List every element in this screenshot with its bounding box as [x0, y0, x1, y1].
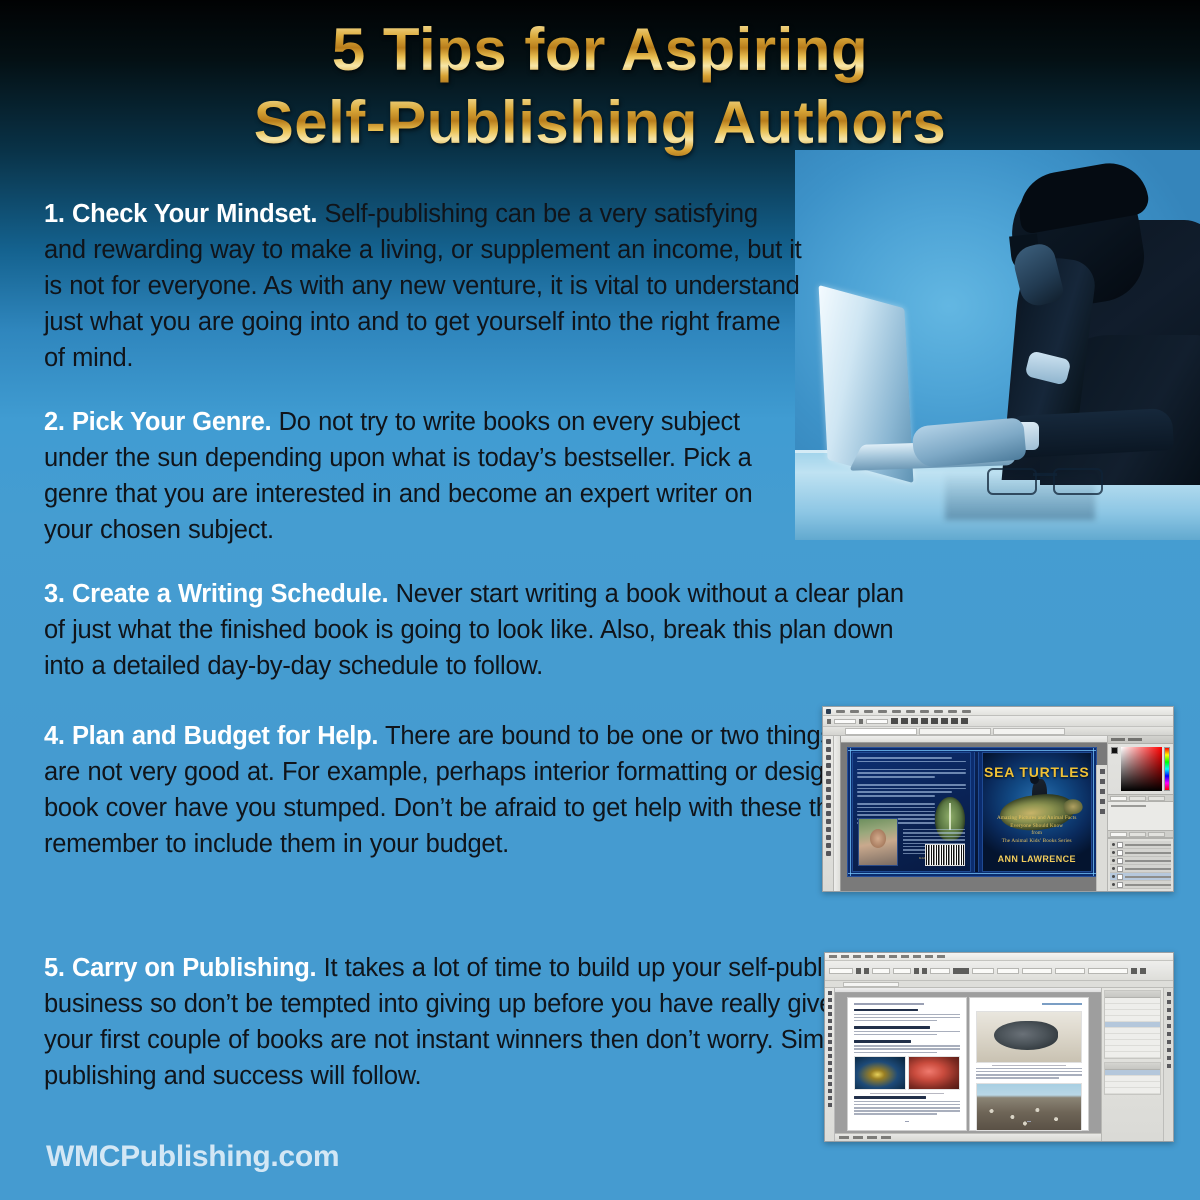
layer-name	[1125, 868, 1171, 870]
preflight-status	[867, 1136, 877, 1139]
book-front-cover: SEA TURTLES Amazing Pictures and Animal …	[982, 752, 1093, 872]
menu-item[interactable]	[913, 955, 921, 958]
align-left-icon[interactable]	[856, 968, 861, 974]
page-tool-icon[interactable]	[828, 1005, 832, 1009]
rectangle-tool-icon[interactable]	[828, 1054, 832, 1058]
hand-tool-icon[interactable]	[826, 843, 831, 848]
indesign-document-tabs	[825, 981, 1173, 988]
color-panel-icon[interactable]	[1167, 1024, 1171, 1028]
title-line-1: 5 Tips for Aspiring	[0, 14, 1200, 86]
running-header	[854, 1003, 924, 1005]
effects-panel-icon[interactable]	[1167, 1040, 1171, 1044]
selection-tool-icon[interactable]	[828, 991, 832, 995]
indesign-right-panels	[1101, 988, 1163, 1141]
section-heading	[854, 1040, 911, 1043]
foreground-color-swatch[interactable]	[1111, 747, 1118, 754]
folio-mark	[1027, 1121, 1031, 1123]
scissors-tool-icon[interactable]	[828, 1061, 832, 1065]
text-line	[857, 795, 935, 797]
distribute-icon[interactable]	[951, 718, 958, 724]
image-caption	[992, 1065, 1066, 1066]
jellyfish-photo	[854, 1056, 906, 1090]
photoshop-menu-bar	[823, 707, 1173, 716]
font-size-field[interactable]	[872, 968, 890, 974]
layer-row[interactable]	[1110, 857, 1171, 865]
subtitle-line-4: The Animal Kids’ Books Series	[1002, 838, 1072, 844]
menu-item[interactable]	[853, 955, 861, 958]
stroke-weight-swatch[interactable]	[953, 968, 969, 974]
text-line	[857, 761, 966, 763]
section-heading	[854, 1009, 918, 1012]
indesign-canvas[interactable]	[835, 988, 1101, 1141]
crop-tool-icon[interactable]	[826, 763, 831, 768]
tip-paragraph-4: 4. Plan and Budget for Help. There are b…	[44, 718, 954, 862]
gradient-tool-icon[interactable]	[828, 1075, 832, 1079]
layer-row[interactable]	[1110, 849, 1171, 857]
spacer	[857, 765, 966, 769]
distribute-icon[interactable]	[921, 718, 928, 724]
panel-header[interactable]	[1105, 991, 1160, 998]
title-line-2: Self-Publishing Authors	[0, 86, 1200, 160]
tip-lead-1: 1. Check Your Mindset.	[44, 200, 317, 228]
running-header-right	[1042, 1003, 1082, 1005]
type-tool-icon[interactable]	[828, 1019, 832, 1023]
menu-item[interactable]	[865, 955, 873, 958]
photoshop-toolbar	[823, 736, 834, 891]
navigator-panel-icon[interactable]	[1100, 779, 1105, 784]
interior-page-right[interactable]	[969, 997, 1089, 1131]
horizontal-ruler	[834, 736, 1107, 743]
body-text-line	[976, 1071, 1082, 1072]
style-row[interactable]	[1105, 1088, 1160, 1094]
subtitle-line-2: Everyone Should Know	[1010, 823, 1063, 829]
photoshop-canvas[interactable]: The Animal Kids’ Books Series SEA TURTLE…	[834, 736, 1107, 891]
body-text-line	[854, 1031, 960, 1032]
layer-thumbnail	[1117, 882, 1123, 888]
panel-tab-adjustments[interactable]	[1129, 796, 1146, 801]
photoshop-options-bar	[823, 716, 1173, 727]
image-row	[854, 1056, 960, 1090]
move-tool-icon[interactable]	[826, 739, 831, 744]
layer-visibility-icon[interactable]	[1112, 843, 1115, 846]
menu-item	[892, 710, 901, 713]
layer-row[interactable]	[1110, 881, 1171, 889]
tool-option-field[interactable]	[866, 719, 888, 724]
document-tab-active[interactable]	[843, 982, 899, 987]
horizontal-ruler	[835, 988, 1101, 993]
paths-panel-icon[interactable]	[1100, 809, 1105, 814]
saturation-value-field[interactable]	[1121, 747, 1162, 791]
text-line	[903, 829, 965, 830]
body-text-line	[854, 1104, 960, 1105]
body-text-line	[854, 1101, 960, 1102]
text-wrap-panel-icon[interactable]	[1167, 1048, 1171, 1052]
menu-item	[878, 710, 887, 713]
eraser-tool-icon[interactable]	[826, 803, 831, 808]
bullet-line	[857, 803, 935, 805]
layers-panel-icon[interactable]	[1167, 1000, 1171, 1004]
pen-tool-icon[interactable]	[828, 1033, 832, 1037]
gap-tool-icon[interactable]	[828, 1012, 832, 1016]
tip-lead-4: 4. Plan and Budget for Help.	[44, 722, 378, 750]
image-caption	[870, 1093, 944, 1094]
layer-row[interactable]	[1110, 841, 1171, 849]
pages-panel-icon[interactable]	[1167, 992, 1171, 996]
book-subtitle: Amazing Pictures and Animal Facts Everyo…	[987, 815, 1087, 845]
body-text-line	[854, 1017, 960, 1018]
subtitle-line-1: Amazing Pictures and Animal Facts	[997, 815, 1077, 821]
foreground-background-swatch[interactable]	[1111, 747, 1119, 791]
page-title: 5 Tips for Aspiring Self-Publishing Auth…	[0, 14, 1200, 160]
align-icon[interactable]	[891, 718, 898, 724]
tip-paragraph-3: 3. Create a Writing Schedule. Never star…	[44, 576, 924, 684]
tip-item-3: 3. Create a Writing Schedule. Never star…	[44, 576, 924, 684]
y-position-field[interactable]	[997, 968, 1019, 974]
photoshop-logo-icon	[826, 709, 831, 714]
hyperlinks-panel-icon[interactable]	[1167, 1064, 1171, 1068]
stroke-panel-icon[interactable]	[1167, 1016, 1171, 1020]
menu-item[interactable]	[829, 955, 837, 958]
text-line	[857, 791, 952, 793]
history-panel-icon[interactable]	[1100, 769, 1105, 774]
layer-name	[1125, 844, 1171, 846]
color-picker[interactable]	[1108, 744, 1173, 794]
clone-stamp-tool-icon[interactable]	[826, 795, 831, 800]
swatches-panel-icon[interactable]	[1100, 789, 1105, 794]
text-line	[857, 769, 966, 771]
tool-option-icon[interactable]	[827, 719, 831, 724]
bold-icon[interactable]	[914, 968, 919, 974]
swatches-panel-icon[interactable]	[1167, 1032, 1171, 1036]
screenshot-indesign-interior	[824, 952, 1174, 1142]
object-style-field[interactable]	[1088, 968, 1128, 974]
tip-paragraph-2: 2. Pick Your Genre. Do not try to write …	[44, 404, 794, 548]
tip-lead-5: 5. Carry on Publishing.	[44, 954, 316, 982]
eyeglasses-bridge	[1033, 473, 1057, 476]
indesign-panel-dock	[1163, 988, 1173, 1141]
menu-item	[850, 710, 859, 713]
tip-paragraph-1: 1. Check Your Mindset. Self-publishing c…	[44, 196, 804, 376]
eyeglasses-icon	[987, 468, 1103, 494]
zoom-level-field[interactable]	[839, 1136, 849, 1139]
layer-row[interactable]	[1110, 865, 1171, 873]
isbn-barcode	[925, 844, 965, 866]
book-title: SEA TURTLES	[983, 764, 1092, 780]
author-photo	[858, 818, 898, 866]
healing-brush-tool-icon[interactable]	[826, 779, 831, 784]
text-line	[857, 757, 952, 759]
guide-line	[848, 750, 1096, 751]
document-tab-active[interactable]	[845, 728, 917, 735]
document-tab[interactable]	[993, 728, 1065, 735]
style-row[interactable]	[1105, 1052, 1160, 1058]
folio-mark	[905, 1121, 909, 1123]
menu-item	[920, 710, 929, 713]
hand-tool-icon[interactable]	[828, 1096, 832, 1100]
eyedropper-tool-icon[interactable]	[828, 1089, 832, 1093]
free-transform-tool-icon[interactable]	[828, 1068, 832, 1072]
indesign-workspace	[825, 988, 1173, 1141]
zoom-tool-icon[interactable]	[828, 1103, 832, 1107]
tip-item-2: 2. Pick Your Genre. Do not try to write …	[44, 404, 794, 548]
adjustments-panel-icon[interactable]	[1100, 799, 1105, 804]
page-navigator[interactable]	[853, 1136, 863, 1139]
color-panel-header[interactable]	[1108, 736, 1173, 744]
layer-thumbnail	[1117, 842, 1123, 848]
layer-visibility-icon[interactable]	[1112, 875, 1115, 878]
subtitle-line-3: from	[1031, 830, 1042, 836]
panel-tab-swatches[interactable]	[1128, 738, 1142, 741]
guide-line	[1093, 748, 1094, 876]
indesign-control-bar	[825, 961, 1173, 981]
menu-item[interactable]	[877, 955, 885, 958]
panel-tab-color[interactable]	[1111, 738, 1125, 741]
section-heading	[854, 1096, 926, 1099]
text-line	[857, 784, 966, 786]
guide-line	[850, 748, 851, 876]
pencil-tool-icon[interactable]	[828, 1040, 832, 1044]
pen-tool-icon[interactable]	[826, 827, 831, 832]
body-text-line	[854, 1034, 937, 1035]
vertical-ruler	[834, 736, 841, 891]
photoshop-workspace: The Animal Kids’ Books Series SEA TURTLE…	[823, 736, 1173, 891]
panel-tab-styles[interactable]	[1148, 796, 1165, 801]
panel-header[interactable]	[1105, 1063, 1160, 1070]
infographic-poster: 5 Tips for Aspiring Self-Publishing Auth…	[0, 0, 1200, 1200]
interior-page-left[interactable]	[847, 997, 967, 1131]
width-field[interactable]	[1022, 968, 1052, 974]
photoshop-document-tabs	[823, 727, 1173, 736]
brush-tool-icon[interactable]	[826, 787, 831, 792]
layer-name	[1125, 876, 1171, 878]
distribute-icon[interactable]	[941, 718, 948, 724]
book-back-cover: The Animal Kids’ Books Series	[852, 752, 971, 872]
menu-item	[836, 710, 845, 713]
layer-visibility-icon[interactable]	[1112, 867, 1115, 870]
crab-photo	[908, 1056, 960, 1090]
properties-panel-body	[1108, 802, 1173, 830]
rectangle-frame-tool-icon[interactable]	[828, 1047, 832, 1051]
bullet-line	[857, 811, 935, 813]
zoom-tool-icon[interactable]	[826, 851, 831, 856]
effects-icon[interactable]	[1140, 968, 1146, 974]
document-tab[interactable]	[919, 728, 991, 735]
height-field[interactable]	[1055, 968, 1085, 974]
direct-selection-tool-icon[interactable]	[828, 998, 832, 1002]
menu-item	[864, 710, 873, 713]
tracking-field[interactable]	[930, 968, 950, 974]
layer-visibility-icon[interactable]	[1112, 859, 1115, 862]
page-number	[970, 1109, 1088, 1127]
paragraph-styles-panel	[1104, 990, 1161, 1059]
tool-option-icon[interactable]	[859, 719, 863, 724]
character-styles-panel	[1104, 1062, 1161, 1095]
paragraph-style-field[interactable]	[829, 968, 853, 974]
menu-item	[934, 710, 943, 713]
gradient-tool-icon[interactable]	[826, 811, 831, 816]
links-panel-icon[interactable]	[1167, 1008, 1171, 1012]
body-text-line	[854, 1014, 960, 1015]
text-line	[903, 836, 965, 837]
page-number	[848, 1109, 966, 1127]
property-label	[1111, 805, 1146, 807]
sea-turtle-photo	[976, 1011, 1082, 1063]
distribute-icon[interactable]	[961, 718, 968, 724]
tip-lead-2: 2. Pick Your Genre.	[44, 408, 271, 436]
layers-panel-tabs	[1108, 830, 1173, 838]
indesign-menu-bar	[825, 953, 1173, 961]
text-line	[857, 788, 966, 790]
panel-tab-paths[interactable]	[1148, 832, 1165, 837]
body-text-line	[854, 1020, 937, 1021]
layer-thumbnail	[1117, 850, 1123, 856]
layer-thumbnail	[1117, 874, 1123, 880]
body-text-line	[854, 1048, 960, 1049]
align-panel-icon[interactable]	[1167, 1056, 1171, 1060]
leading-field[interactable]	[893, 968, 911, 974]
body-text-line	[976, 1077, 1059, 1078]
lasso-tool-icon[interactable]	[826, 755, 831, 760]
body-text-line	[976, 1068, 1082, 1069]
tip-lead-3: 3. Create a Writing Schedule.	[44, 580, 388, 608]
shape-tool-icon[interactable]	[826, 835, 831, 840]
section-heading	[854, 1026, 930, 1029]
layer-thumbnail	[1117, 858, 1123, 864]
layer-name	[1125, 884, 1171, 886]
layer-row-selected[interactable]	[1110, 873, 1171, 881]
panel-tab-layers[interactable]	[1110, 832, 1127, 837]
line-tool-icon[interactable]	[828, 1026, 832, 1030]
bullet-line	[857, 814, 935, 816]
eyedropper-tool-icon[interactable]	[826, 771, 831, 776]
book-spine	[974, 752, 979, 872]
properties-panel-tabs	[1108, 794, 1173, 802]
layer-name	[1125, 860, 1171, 862]
menu-item	[906, 710, 915, 713]
layers-panel	[1108, 838, 1173, 891]
menu-item[interactable]	[901, 955, 909, 958]
book-cover-artboard[interactable]: The Animal Kids’ Books Series SEA TURTLE…	[847, 747, 1097, 877]
note-tool-icon[interactable]	[828, 1082, 832, 1086]
book-author: ANN LAWRENCE	[983, 854, 1092, 864]
bullet-line	[857, 807, 935, 809]
menu-item[interactable]	[925, 955, 933, 958]
layer-thumbnail	[1117, 866, 1123, 872]
menu-item[interactable]	[841, 955, 849, 958]
text-line	[857, 776, 935, 778]
menu-item	[948, 710, 957, 713]
book-interior-spread[interactable]	[847, 997, 1089, 1131]
menu-item	[962, 710, 971, 713]
cover-spread: The Animal Kids’ Books Series SEA TURTLE…	[852, 752, 1092, 872]
body-text-line	[976, 1074, 1082, 1075]
distribute-icon[interactable]	[931, 718, 938, 724]
tip-item-1: 1. Check Your Mindset. Self-publishing c…	[44, 196, 804, 376]
type-tool-icon[interactable]	[826, 819, 831, 824]
body-text-line	[854, 1045, 960, 1046]
panel-tab-channels[interactable]	[1129, 832, 1146, 837]
indesign-toolbar	[825, 988, 835, 1141]
text-line	[857, 772, 966, 774]
hue-slider[interactable]	[1164, 747, 1170, 791]
layer-name	[1125, 852, 1171, 854]
text-line	[903, 839, 965, 840]
align-center-icon[interactable]	[864, 968, 869, 974]
photoshop-panel-dock	[1096, 765, 1107, 891]
indesign-status-bar	[835, 1133, 1101, 1141]
align-icon[interactable]	[901, 718, 908, 724]
menu-item[interactable]	[889, 955, 897, 958]
align-icon[interactable]	[911, 718, 918, 724]
wrap-icon[interactable]	[1131, 968, 1137, 974]
guide-line	[848, 873, 1096, 874]
tool-option-field[interactable]	[834, 719, 856, 724]
tip-item-4: 4. Plan and Budget for Help. There are b…	[44, 718, 954, 862]
screenshot-photoshop-book-cover: The Animal Kids’ Books Series SEA TURTLE…	[822, 706, 1174, 892]
italic-icon[interactable]	[922, 968, 927, 974]
layer-visibility-icon[interactable]	[1112, 883, 1115, 886]
menu-item[interactable]	[937, 955, 945, 958]
x-position-field[interactable]	[972, 968, 994, 974]
text-line	[903, 832, 965, 833]
layer-visibility-icon[interactable]	[1112, 851, 1115, 854]
photoshop-right-panels	[1107, 736, 1173, 891]
document-status	[881, 1136, 891, 1139]
marquee-tool-icon[interactable]	[826, 747, 831, 752]
panel-tab-properties[interactable]	[1110, 796, 1127, 801]
footer-website[interactable]: WMCPublishing.com	[46, 1140, 339, 1174]
body-text-line	[854, 1052, 937, 1053]
